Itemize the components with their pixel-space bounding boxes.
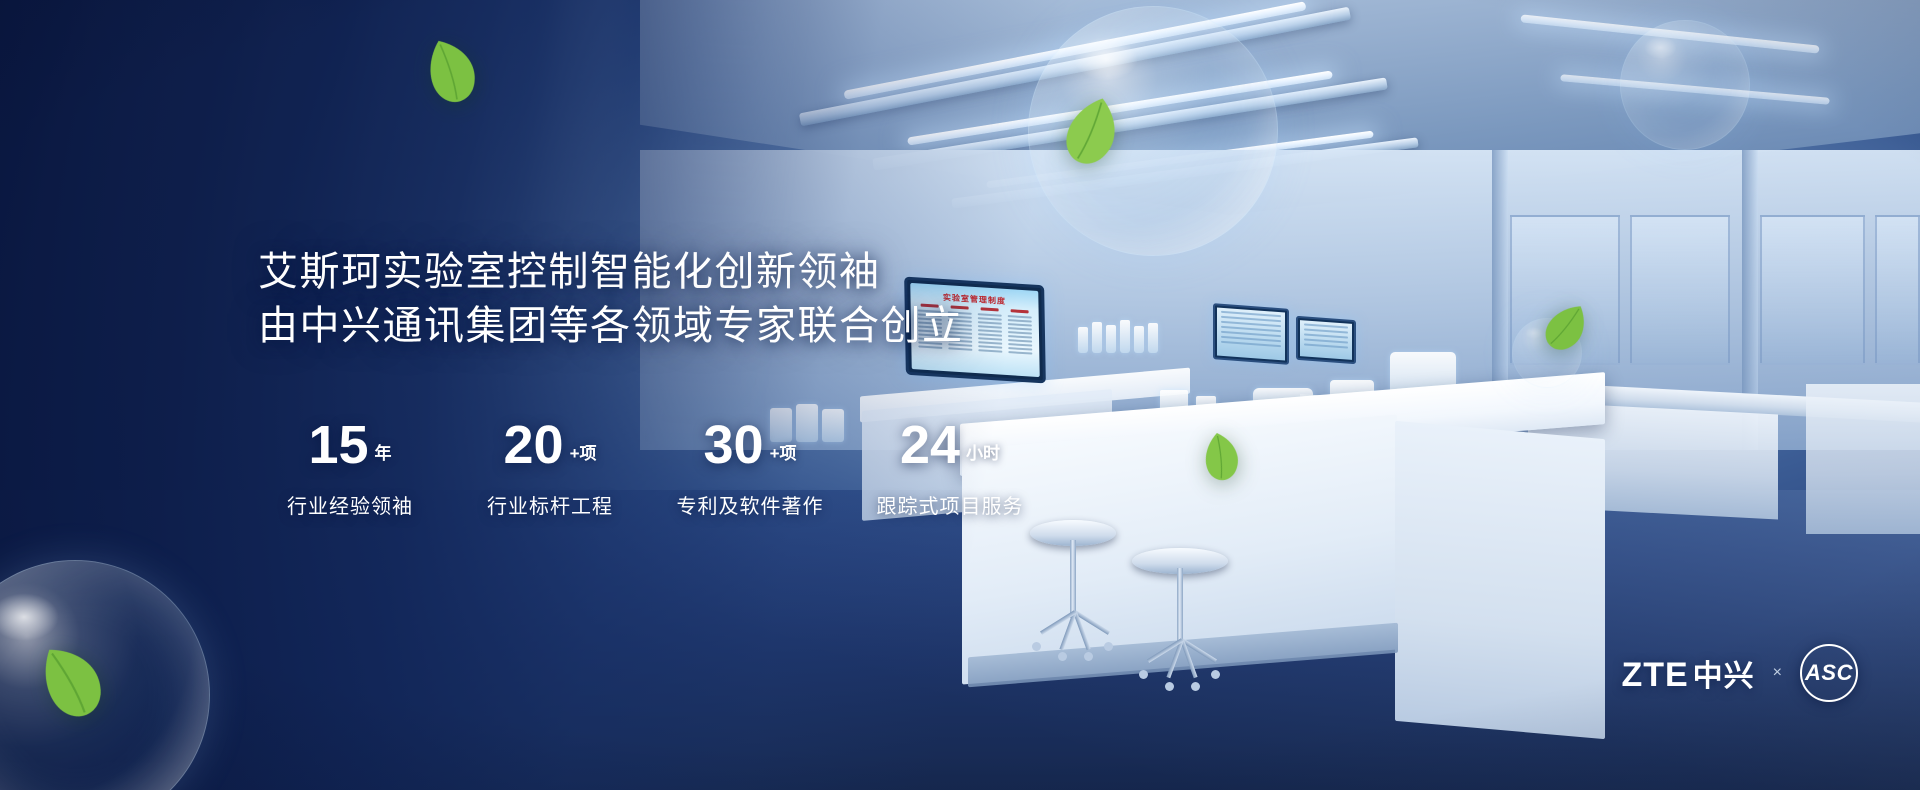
banner-content: 艾斯珂实验室控制智能化创新领袖 由中兴通讯集团等各领域专家联合创立 15 年 行… — [0, 0, 1920, 790]
asc-logo: ASC — [1800, 644, 1858, 702]
zte-logo-latin: ZTE — [1621, 656, 1688, 695]
stat-unit: 小时 — [966, 445, 1000, 462]
stat-item-patents: 30 +项 专利及软件著作 — [650, 418, 850, 519]
stat-unit: 年 — [375, 445, 392, 462]
stat-caption: 专利及软件著作 — [650, 490, 850, 519]
stat-caption: 行业标杆工程 — [450, 490, 650, 519]
stat-caption: 行业经验领袖 — [250, 490, 450, 519]
stat-value-row: 20 +项 — [450, 418, 650, 480]
stat-value-row: 15 年 — [250, 418, 450, 480]
stat-value-row: 30 +项 — [650, 418, 850, 480]
stat-number: 20 — [503, 418, 563, 472]
stat-unit: +项 — [570, 445, 597, 462]
headline-line-2: 由中兴通讯集团等各领域专家联合创立 — [258, 300, 964, 354]
zte-logo: ZTE 中兴 — [1621, 651, 1754, 695]
stat-unit: +项 — [770, 445, 797, 462]
stat-value-row: 24 小时 — [850, 418, 1050, 480]
stat-number: 15 — [308, 418, 368, 472]
stat-number: 24 — [900, 418, 960, 472]
logo-group: ZTE 中兴 × ASC — [1621, 644, 1858, 702]
stat-number: 30 — [703, 418, 763, 472]
stats-row: 15 年 行业经验领袖 20 +项 行业标杆工程 30 +项 专利及软件著作 — [250, 418, 1050, 519]
stat-item-experience: 15 年 行业经验领袖 — [250, 418, 450, 519]
headline: 艾斯珂实验室控制智能化创新领袖 由中兴通讯集团等各领域专家联合创立 — [258, 246, 964, 353]
stat-item-projects: 20 +项 行业标杆工程 — [450, 418, 650, 519]
asc-logo-text: ASC — [1805, 660, 1853, 686]
headline-line-1: 艾斯珂实验室控制智能化创新领袖 — [258, 246, 964, 300]
stat-caption: 跟踪式项目服务 — [850, 490, 1050, 519]
stat-item-service: 24 小时 跟踪式项目服务 — [850, 418, 1050, 519]
logo-separator-icon: × — [1773, 664, 1782, 682]
hero-banner: 实验室管理制度 — [0, 0, 1920, 790]
zte-logo-cn: 中兴 — [1693, 651, 1755, 695]
